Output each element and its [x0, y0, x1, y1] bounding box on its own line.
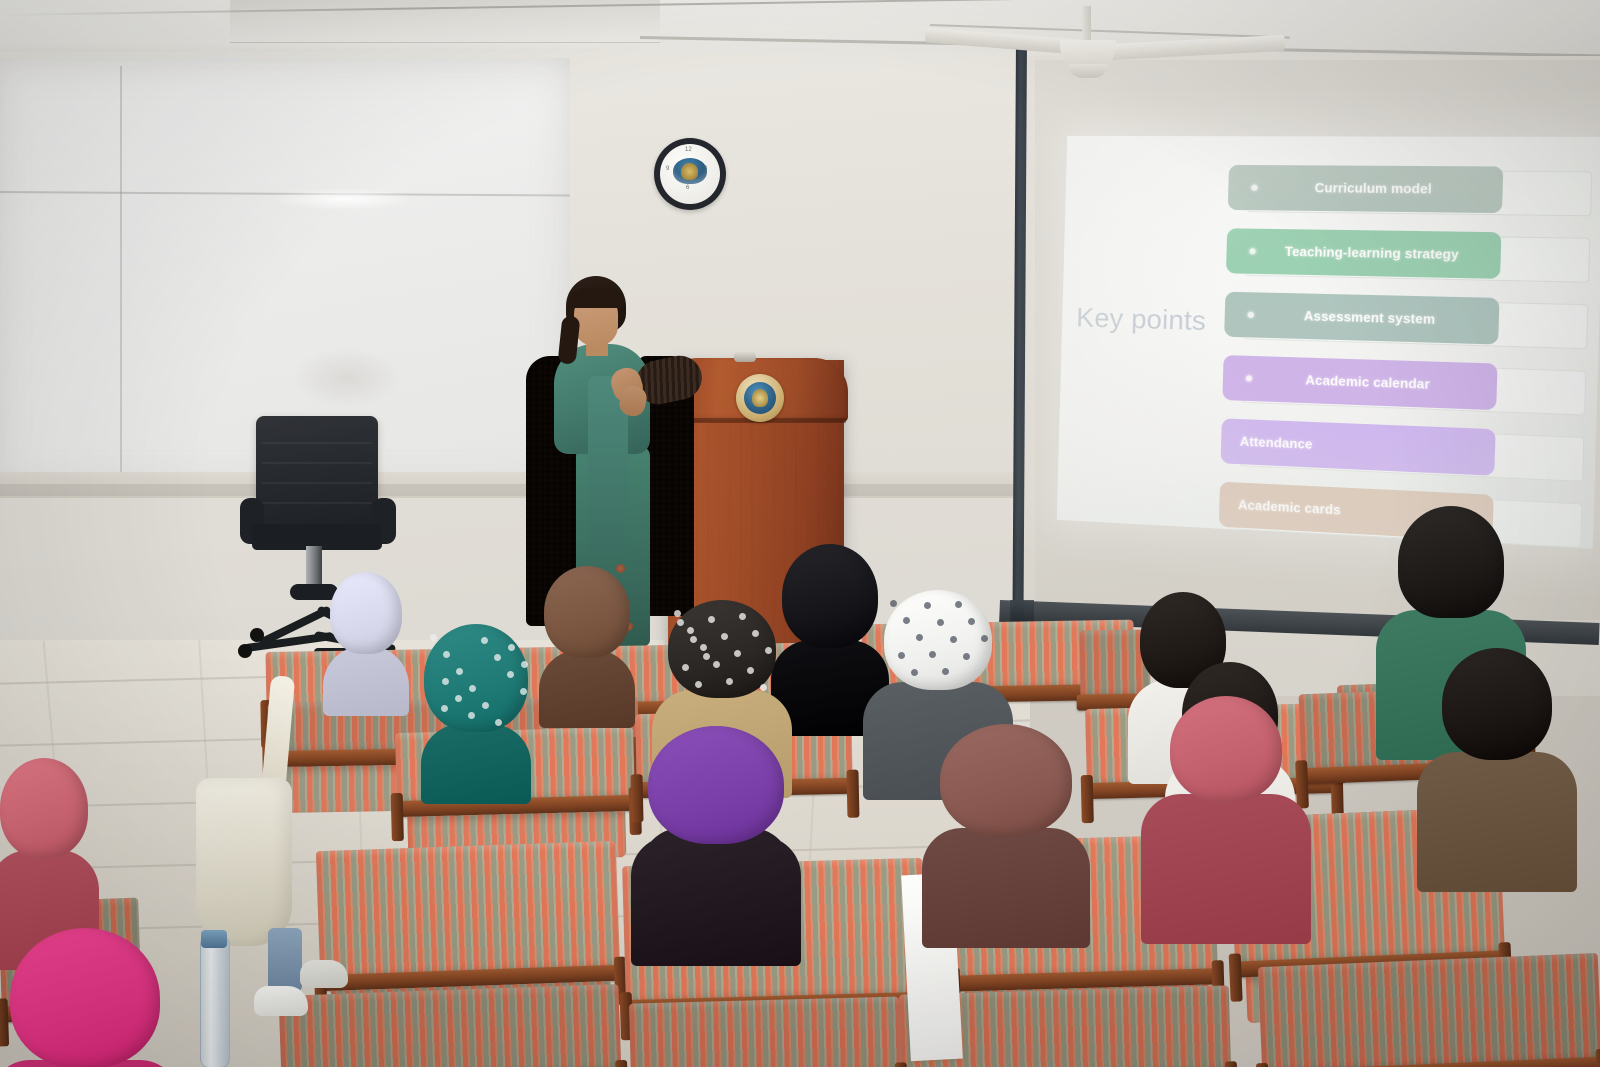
- scarf-motif: [695, 681, 702, 688]
- attendee-white-scarf-head: [884, 590, 992, 690]
- scarf-motif: [481, 637, 488, 644]
- attendee-teal-scarf-head: [424, 624, 528, 732]
- scarf-motif: [494, 654, 501, 661]
- scarf-motif: [674, 610, 681, 617]
- lecture-hall-photo: Key points Curriculum modelTeaching-lear…: [0, 0, 1600, 1067]
- scarf-motif: [713, 661, 720, 668]
- water-bottle-cap: [201, 930, 227, 948]
- scarf-motif: [687, 627, 694, 634]
- scarf-motif: [495, 719, 502, 726]
- scarf-motif: [507, 671, 514, 678]
- scarf-motif: [455, 695, 462, 702]
- attendee-brown-hijab-shoulders: [539, 650, 635, 728]
- scarf-motif: [911, 669, 918, 676]
- scarf-motif: [890, 600, 897, 607]
- scarf-motif: [456, 668, 463, 675]
- seat-wood-post: [1225, 1061, 1238, 1067]
- seat-wood-post: [1229, 953, 1243, 1001]
- seat-cushion: [629, 996, 901, 1067]
- chair-caster: [238, 644, 252, 658]
- scarf-motif: [700, 644, 707, 651]
- scarf-motif: [765, 647, 772, 654]
- scarf-motif: [443, 651, 450, 658]
- scarf-motif: [898, 652, 905, 659]
- seat-cushion: [1258, 953, 1600, 1067]
- attendee-green-shirt-head: [1398, 506, 1504, 618]
- scarf-motif: [520, 688, 527, 695]
- scarf-motif: [963, 653, 970, 660]
- scarf-motif: [442, 678, 449, 685]
- attendee-rose-hijab-head: [1170, 696, 1282, 802]
- attendee-lavender-hijab-shoulders: [323, 646, 409, 716]
- office-chair-base-hub: [290, 584, 338, 600]
- attendee-purple-scarf-head: [648, 726, 784, 844]
- scarf-motif: [739, 613, 746, 620]
- presenter-hair-front: [568, 288, 624, 308]
- scarf-motif: [682, 664, 689, 671]
- seat-wood-post: [846, 770, 859, 818]
- attendee-fur-collar-shoulders: [1417, 752, 1577, 892]
- attendee-lavender-hijab-head: [330, 572, 402, 654]
- clock-tick-6: 6: [686, 185, 689, 191]
- podium-microphone: [734, 352, 756, 362]
- scarf-motif: [482, 702, 489, 709]
- clock-tick-9: 9: [666, 166, 669, 172]
- scarf-motif: [760, 684, 767, 691]
- scarf-motif: [942, 668, 949, 675]
- attendee-magenta-hijab-head: [10, 928, 160, 1067]
- scarf-motif: [508, 644, 515, 651]
- attendee-black-niqab-head: [782, 544, 878, 648]
- slide-edge-falloff: [1057, 136, 1600, 549]
- seat-wood-post: [1295, 760, 1309, 808]
- scarf-motif: [469, 685, 476, 692]
- seat-wood-post: [1081, 775, 1094, 823]
- seat-wood-post: [895, 1062, 908, 1067]
- tote-bag: [196, 778, 292, 946]
- attendee-maroon-scarf-head: [940, 724, 1072, 836]
- scarf-motif: [747, 667, 754, 674]
- scarf-motif: [955, 601, 962, 608]
- clock-logo-inner-icon: [681, 163, 698, 180]
- projected-slide: Key points Curriculum modelTeaching-lear…: [1057, 136, 1600, 549]
- attendee-rose-hijab-shoulders: [1141, 794, 1311, 944]
- whiteboard-smudge: [292, 348, 402, 408]
- scarf-motif: [903, 617, 910, 624]
- scarf-motif: [690, 636, 697, 643]
- scarf-motif: [430, 634, 437, 641]
- scarf-motif: [981, 635, 988, 642]
- attendee-legs: [268, 928, 302, 992]
- scarf-motif: [752, 630, 759, 637]
- chair-stitch-line: [262, 482, 372, 484]
- attendee-brown-hijab-head: [544, 566, 630, 658]
- chair-stitch-line: [262, 502, 372, 504]
- fan-downrod: [1082, 6, 1091, 44]
- whiteboard-glare: [272, 188, 412, 210]
- scarf-motif: [734, 650, 741, 657]
- scarf-motif: [929, 651, 936, 658]
- attendee-purple-scarf-shoulders: [631, 836, 801, 966]
- scarf-motif: [468, 712, 475, 719]
- water-bottle: [200, 938, 230, 1067]
- attendee-maroon-scarf-shoulders: [922, 828, 1090, 948]
- wall-clock: 12 3 6 9: [654, 138, 726, 210]
- sneaker-left: [254, 986, 308, 1016]
- seat-wood-post: [615, 1060, 629, 1067]
- office-chair-back: [256, 416, 378, 534]
- attendee-patterned-scarf-head: [668, 600, 776, 698]
- scarf-motif: [441, 705, 448, 712]
- auditorium-seat-row: [316, 841, 620, 981]
- attendee-rose-hijab-head: [0, 758, 88, 858]
- scarf-motif: [521, 661, 528, 668]
- seat-wood-post: [631, 774, 644, 822]
- seat-cushion: [316, 841, 620, 981]
- podium-emblem-core-icon: [752, 389, 768, 407]
- seat-cushion: [279, 984, 622, 1067]
- whiteboard-seam-vertical: [120, 66, 122, 486]
- scarf-motif: [916, 634, 923, 641]
- scarf-motif: [677, 619, 684, 626]
- chair-stitch-line: [262, 462, 372, 464]
- scarf-motif: [924, 602, 931, 609]
- scarf-motif: [726, 678, 733, 685]
- auditorium-seat-row: [1258, 953, 1600, 1067]
- seat-wood-post: [391, 793, 404, 841]
- clock-tick-12: 12: [685, 147, 692, 153]
- scarf-motif: [950, 636, 957, 643]
- attendee-teal-scarf-shoulders: [421, 724, 531, 804]
- chair-caster: [250, 628, 264, 642]
- scarf-motif: [703, 653, 710, 660]
- scarf-motif: [968, 618, 975, 625]
- sneaker-right: [300, 960, 348, 988]
- scarf-motif: [937, 619, 944, 626]
- scarf-motif: [708, 616, 715, 623]
- auditorium-seat-row: [629, 996, 901, 1067]
- auditorium-seat-row: [279, 984, 622, 1067]
- seat-wood-post: [1596, 1049, 1600, 1067]
- chair-stitch-line: [262, 442, 372, 444]
- attendee-fur-collar-head: [1442, 648, 1552, 760]
- embroidery-motif: [616, 564, 625, 573]
- scarf-motif: [721, 633, 728, 640]
